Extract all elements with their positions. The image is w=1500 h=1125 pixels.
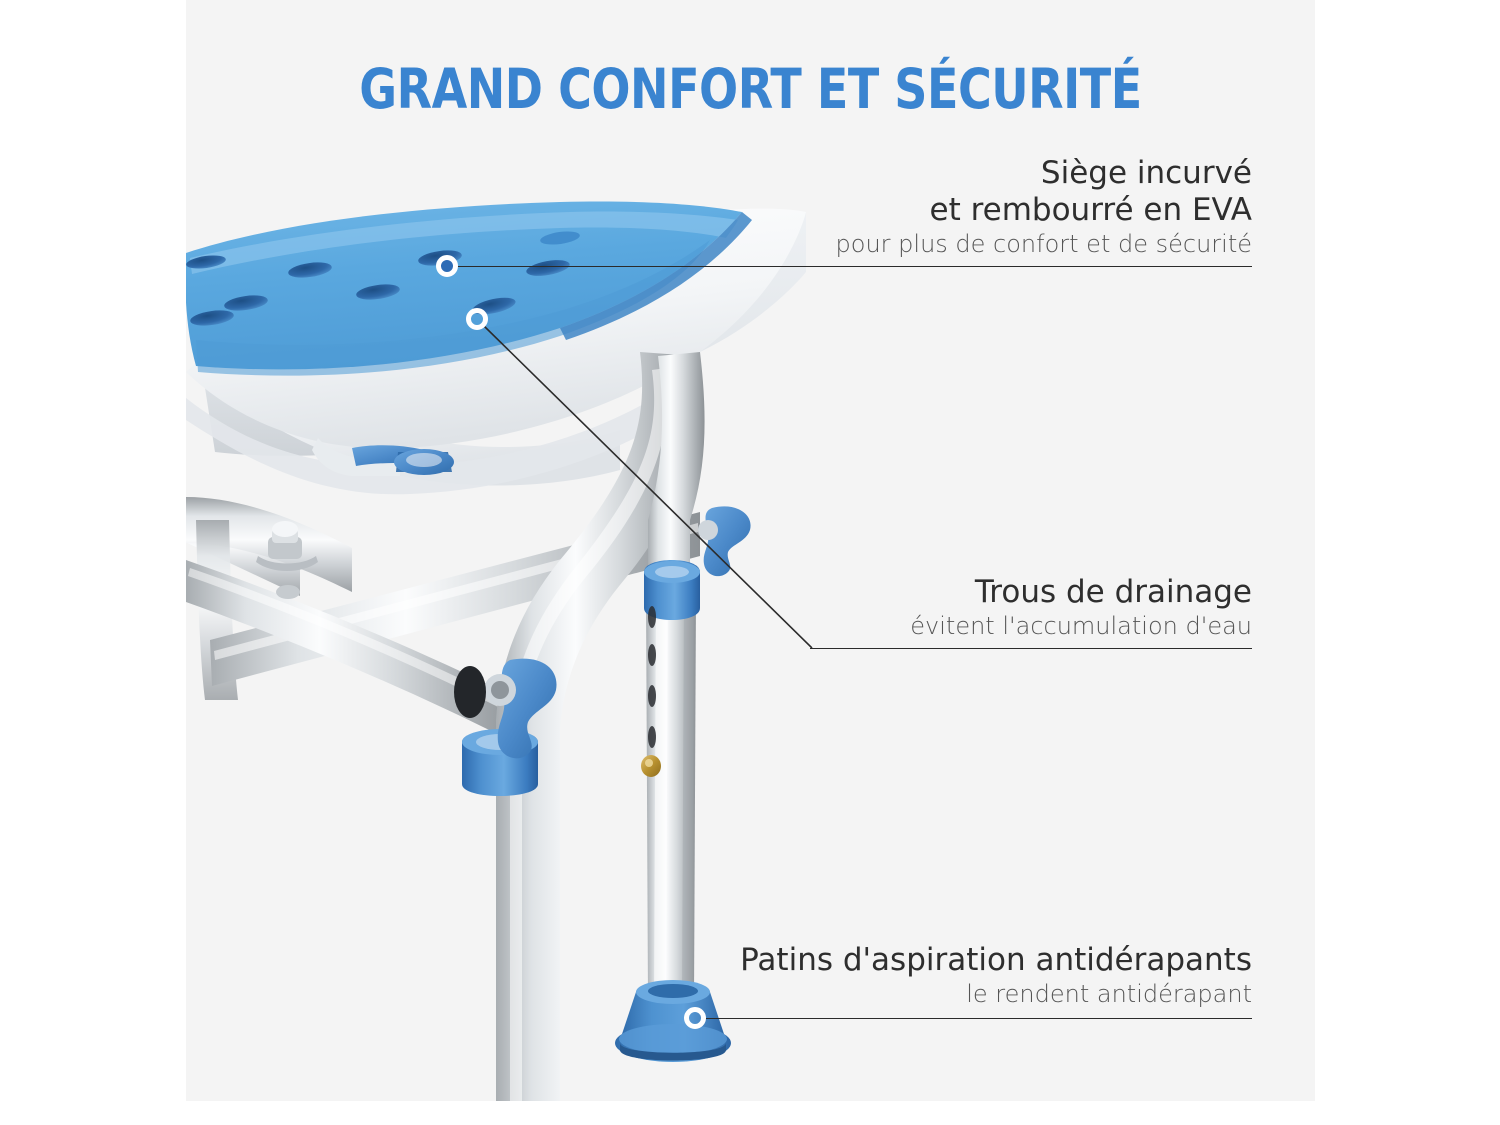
brace-knob xyxy=(698,506,751,576)
callout-seat-marker[interactable] xyxy=(436,255,458,277)
callout-suction-title: Patins d'aspiration antidérapants xyxy=(700,942,1252,979)
callout-suction-rule xyxy=(706,1018,1252,1019)
callout-suction-marker[interactable] xyxy=(684,1007,706,1029)
callout-seat-title-line2: et rembourré en EVA xyxy=(760,192,1252,229)
callout-seat-rule xyxy=(447,266,1252,267)
callout-drainage: Trous de drainage évitent l'accumulation… xyxy=(760,574,1252,641)
callout-drainage-subtitle: évitent l'accumulation d'eau xyxy=(760,611,1252,641)
callout-seat: Siège incurvé et rembourré en EVA pour p… xyxy=(760,155,1252,259)
callout-drainage-title: Trous de drainage xyxy=(760,574,1252,611)
callout-drainage-marker[interactable] xyxy=(466,308,488,330)
callout-drainage-rule xyxy=(810,648,1252,649)
callout-suction-subtitle: le rendent antidérapant xyxy=(700,979,1252,1009)
callout-seat-title-line1: Siège incurvé xyxy=(760,155,1252,192)
callout-seat-subtitle: pour plus de confort et de sécurité xyxy=(760,229,1252,259)
infographic-canvas: GRAND CONFORT ET SÉCURITÉ xyxy=(0,0,1500,1125)
callout-suction: Patins d'aspiration antidérapants le ren… xyxy=(700,942,1252,1009)
